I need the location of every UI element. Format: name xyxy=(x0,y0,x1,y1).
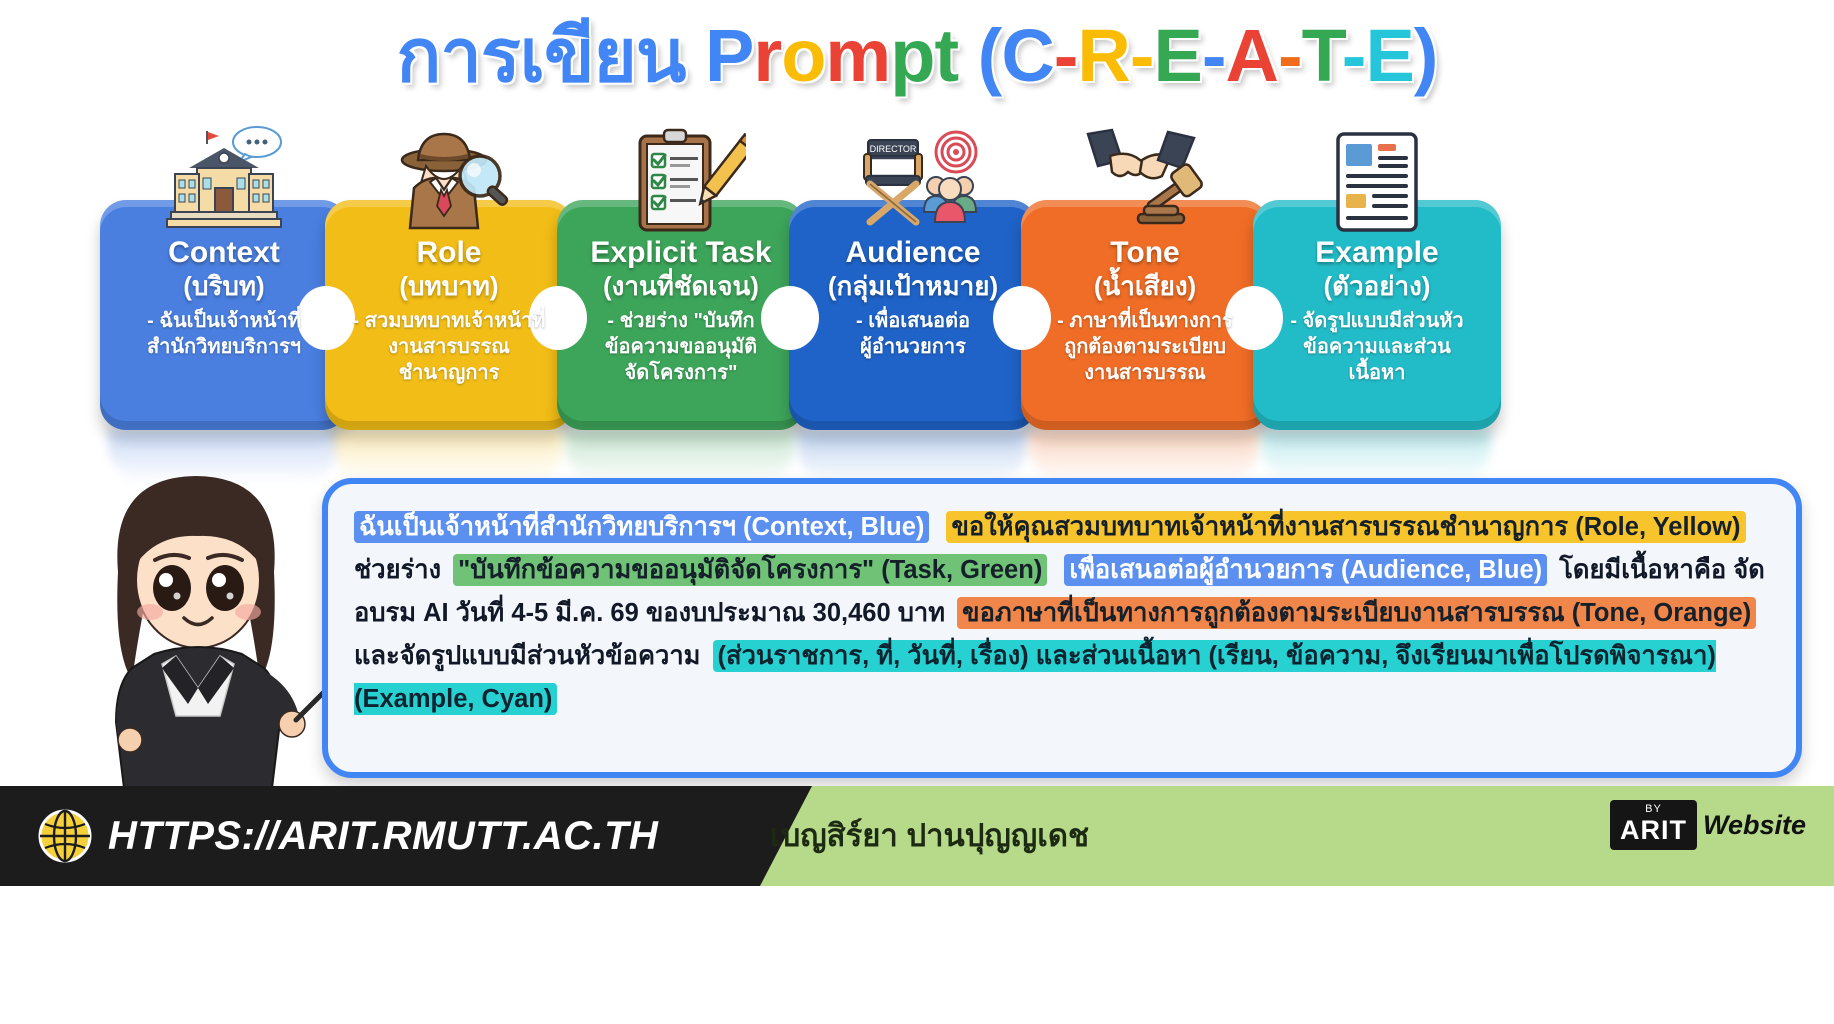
piece-title: Explicit Task xyxy=(569,236,793,270)
document-layout-icon xyxy=(1312,126,1442,234)
footer-white-strip xyxy=(0,886,1834,1024)
clipboard-checklist-icon xyxy=(616,126,746,234)
title-prompt-m: m xyxy=(825,14,890,97)
prompt-text: ฉันเป็นเจ้าหน้าที่สำนักวิทยบริการฯ (Cont… xyxy=(354,506,1770,721)
presenter-mascot xyxy=(58,452,358,802)
title-prompt-t: t xyxy=(934,14,958,97)
prompt-segment-8: ขอภาษาที่เป็นทางการถูกต้องตามระเบียบงานส… xyxy=(957,597,1756,629)
piece-explicit-task[interactable]: Explicit Task (งานที่ชัดเจน) - ช่วยร่าง … xyxy=(557,200,805,430)
piece-title: Context xyxy=(112,236,336,270)
piece-tone[interactable]: Tone (น้ำเสียง) - ภาษาที่เป็นทางการ ถูกต… xyxy=(1021,200,1269,430)
title-paren-close: ) xyxy=(1414,14,1438,97)
title-dash-1: - xyxy=(1054,14,1078,97)
title-letter-a: A xyxy=(1226,14,1278,97)
piece-subtitle: (งานที่ชัดเจน) xyxy=(569,270,793,302)
prompt-example-box[interactable]: ฉันเป็นเจ้าหน้าที่สำนักวิทยบริการฯ (Cont… xyxy=(322,478,1802,778)
title-dash-3: - xyxy=(1202,14,1226,97)
prompt-segment-5 xyxy=(1047,554,1064,586)
globe-icon xyxy=(38,809,92,863)
title-prompt-o: o xyxy=(781,14,825,97)
piece-role[interactable]: Role (บทบาท) - สวมบทบาทเจ้าหน้าที่ งานสา… xyxy=(325,200,573,430)
site-url[interactable]: HTTPS://ARIT.RMUTT.AC.TH xyxy=(108,808,658,864)
prompt-segment-4: "บันทึกข้อความขออนุมัติจัดโครงการ" (Task… xyxy=(453,554,1047,586)
detective-icon xyxy=(384,126,514,234)
piece-subtitle: (ตัวอย่าง) xyxy=(1265,270,1489,302)
piece-title: Example xyxy=(1265,236,1489,270)
piece-desc: - ช่วยร่าง "บันทึก ข้อความขออนุมัติ จัดโ… xyxy=(569,308,793,386)
piece-example[interactable]: Example (ตัวอย่าง) - จัดรูปแบบมีส่วนหัว … xyxy=(1253,200,1501,430)
title-letter-e1: E xyxy=(1154,14,1202,97)
piece-desc: - เพื่อเสนอต่อ ผู้อำนวยการ xyxy=(801,308,1025,360)
piece-context[interactable]: Context (บริบท) - ฉันเป็นเจ้าหน้าที่ สำน… xyxy=(100,200,348,430)
title-letter-c: C xyxy=(1001,14,1053,97)
brand-logo[interactable]: BY ARIT Website xyxy=(1610,800,1806,850)
piece-desc: - จัดรูปแบบมีส่วนหัว ข้อความและส่วน เนื้… xyxy=(1265,308,1489,386)
title-dash-5: - xyxy=(1342,14,1366,97)
brand-arit-label: ARIT xyxy=(1620,817,1687,844)
title-prompt-r: r xyxy=(753,14,781,97)
piece-desc: - ภาษาที่เป็นทางการ ถูกต้องตามระเบียบ งา… xyxy=(1033,308,1257,386)
brand-website-label: Website xyxy=(1703,810,1806,841)
brand-by-label: BY xyxy=(1620,804,1687,815)
title-prompt-p2: p xyxy=(890,14,934,97)
director-chair-target-icon: DIRECTOR xyxy=(848,126,978,234)
title-letter-e2: E xyxy=(1365,14,1413,97)
author-name: เบญสิร์ยา ปานปุญญเดช xyxy=(770,812,1089,860)
title-thai: การเขียน xyxy=(397,14,686,97)
piece-audience[interactable]: DIRECTOR Audience (กลุ่มเป้าหมาย) - เพื่… xyxy=(789,200,1037,430)
prompt-segment-1 xyxy=(929,511,946,543)
piece-title: Tone xyxy=(1033,236,1257,270)
svg-text:DIRECTOR: DIRECTOR xyxy=(870,144,917,154)
prompt-segment-0: ฉันเป็นเจ้าหน้าที่สำนักวิทยบริการฯ (Cont… xyxy=(354,511,929,543)
piece-subtitle: (บทบาท) xyxy=(337,270,561,302)
school-building-icon xyxy=(159,126,289,234)
prompt-segment-2: ขอให้คุณสวมบทบาทเจ้าหน้าที่งานสารบรรณชำน… xyxy=(946,511,1745,543)
handshake-gavel-icon xyxy=(1080,126,1210,234)
page-title: การเขียน Prompt (C-R-E-A-T-E) xyxy=(0,8,1834,104)
footer: HTTPS://ARIT.RMUTT.AC.TH เบญสิร์ยา ปานปุ… xyxy=(0,786,1834,1024)
title-dash-2: - xyxy=(1130,14,1154,97)
title-paren-open: ( xyxy=(978,14,1002,97)
brand-badge: BY ARIT xyxy=(1610,800,1697,850)
title-letter-t: T xyxy=(1302,14,1342,97)
piece-subtitle: (น้ำเสียง) xyxy=(1033,270,1257,302)
piece-title: Audience xyxy=(801,236,1025,270)
piece-subtitle: (กลุ่มเป้าหมาย) xyxy=(801,270,1025,302)
piece-desc: - ฉันเป็นเจ้าหน้าที่ สำนักวิทยบริการฯ xyxy=(112,308,336,360)
title-prompt-p: P xyxy=(705,14,753,97)
create-framework-row: Context (บริบท) - ฉันเป็นเจ้าหน้าที่ สำน… xyxy=(0,120,1834,440)
prompt-segment-6: เพื่อเสนอต่อผู้อำนวยการ (Audience, Blue) xyxy=(1064,554,1547,586)
title-letter-r: R xyxy=(1077,14,1129,97)
title-dash-4: - xyxy=(1278,14,1302,97)
piece-desc: - สวมบทบาทเจ้าหน้าที่ งานสารบรรณ ชำนาญกา… xyxy=(337,308,561,386)
piece-title: Role xyxy=(337,236,561,270)
piece-subtitle: (บริบท) xyxy=(112,270,336,302)
